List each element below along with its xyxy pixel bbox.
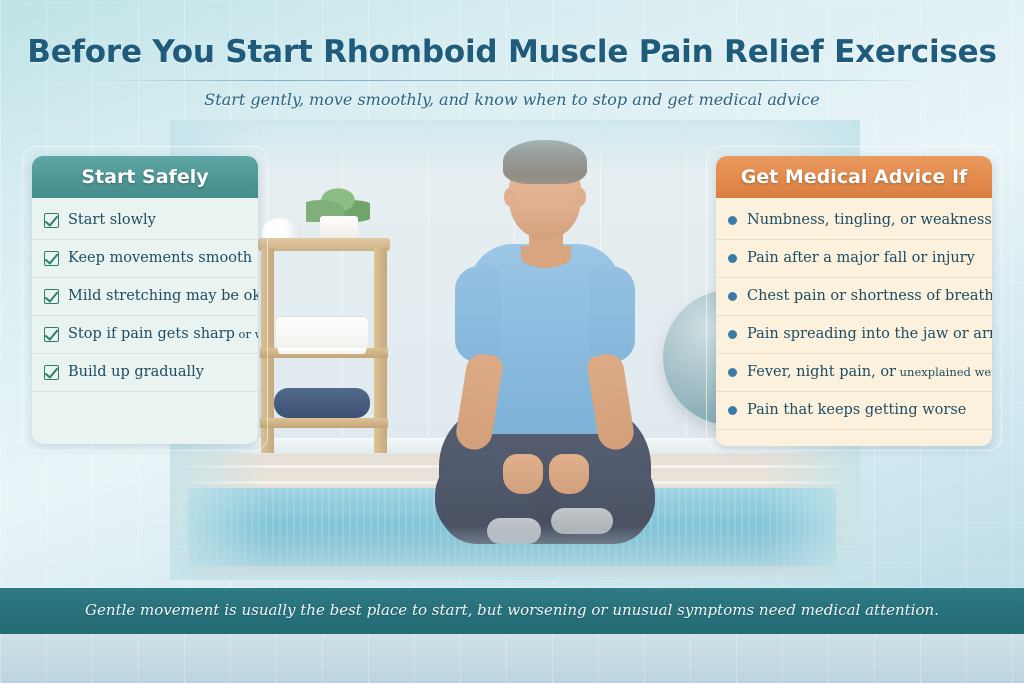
bullet-dot-icon xyxy=(728,292,737,301)
list-item: Numbness, tingling, or weakness xyxy=(716,202,992,240)
footer-message: Gentle movement is usually the best plac… xyxy=(0,601,1024,619)
person-hair xyxy=(503,140,587,184)
person-hand-right xyxy=(549,454,589,494)
person-shirt-collar xyxy=(521,246,571,268)
person-hands xyxy=(503,454,589,494)
title-divider xyxy=(104,80,926,81)
person-sock-left xyxy=(487,518,541,544)
list-item: Keep movements smooth xyxy=(32,240,258,278)
list-item-label: Pain after a major fall or injury xyxy=(747,251,975,267)
folded-white-towels xyxy=(276,316,368,348)
list-item: Build up gradually xyxy=(32,354,258,392)
wooden-shelf-unit xyxy=(258,238,390,453)
list-item: Pain after a major fall or injury xyxy=(716,240,992,278)
list-item: Start slowly xyxy=(32,202,258,240)
start-safely-heading: Start Safely xyxy=(32,156,258,198)
infographic-canvas: Before You Start Rhomboid Muscle Pain Re… xyxy=(0,0,1024,683)
bullet-dot-icon xyxy=(728,368,737,377)
checkbox-check-icon xyxy=(44,251,59,266)
list-item-label: Chest pain or shortness of breath xyxy=(747,289,992,305)
shelf-plant xyxy=(306,190,370,242)
list-item: Pain spreading into the jaw or arm xyxy=(716,316,992,354)
list-item-label: Keep movements smooth xyxy=(68,251,252,267)
checkbox-check-icon xyxy=(44,213,59,228)
shelf-top-board xyxy=(258,238,390,251)
list-item: Stop if pain gets sharp or worse xyxy=(32,316,258,354)
person-sleeve-left xyxy=(455,266,501,362)
shelf-board-middle xyxy=(260,348,388,358)
page-title: Before You Start Rhomboid Muscle Pain Re… xyxy=(0,34,1024,70)
rolled-navy-towel xyxy=(274,388,370,418)
bullet-dot-icon xyxy=(728,406,737,415)
list-item: Chest pain or shortness of breath xyxy=(716,278,992,316)
person-sock-right xyxy=(551,508,613,534)
bullet-dot-icon xyxy=(728,330,737,339)
get-medical-advice-card: Get Medical Advice If Numbness, tingling… xyxy=(716,156,992,446)
list-item-label: Pain spreading into the jaw or arm xyxy=(747,327,992,343)
checkbox-check-icon xyxy=(44,289,59,304)
shelf-board-lower xyxy=(260,418,388,428)
bullet-dot-icon xyxy=(728,254,737,263)
bullet-dot-icon xyxy=(728,216,737,225)
list-item-label: Fever, night pain, or unexplained weight… xyxy=(747,365,992,381)
start-safely-list: Start slowly Keep movements smooth Mild … xyxy=(32,198,258,392)
seated-person xyxy=(425,136,665,556)
list-item: Mild stretching may be okay xyxy=(32,278,258,316)
list-item-label: Stop if pain gets sharp or worse xyxy=(68,327,258,343)
page-subtitle: Start gently, move smoothly, and know wh… xyxy=(0,90,1024,109)
footer-lower-background xyxy=(0,634,1024,683)
list-item-label: Numbness, tingling, or weakness xyxy=(747,213,992,229)
checkbox-check-icon xyxy=(44,327,59,342)
checkbox-check-icon xyxy=(44,365,59,380)
list-item-label: Pain that keeps getting worse xyxy=(747,403,966,419)
start-safely-card: Start Safely Start slowly Keep movements… xyxy=(32,156,258,444)
list-item: Pain that keeps getting worse xyxy=(716,392,992,430)
person-ear-right xyxy=(575,188,586,206)
list-item-label: Start slowly xyxy=(68,213,156,229)
get-medical-advice-list: Numbness, tingling, or weakness Pain aft… xyxy=(716,198,992,430)
list-item-label: Build up gradually xyxy=(68,365,204,381)
list-item-label: Mild stretching may be okay xyxy=(68,289,258,305)
person-ear-left xyxy=(504,188,515,206)
list-item: Fever, night pain, or unexplained weight… xyxy=(716,354,992,392)
person-hand-left xyxy=(503,454,543,494)
person-sleeve-right xyxy=(589,266,635,362)
get-medical-advice-heading: Get Medical Advice If xyxy=(716,156,992,198)
